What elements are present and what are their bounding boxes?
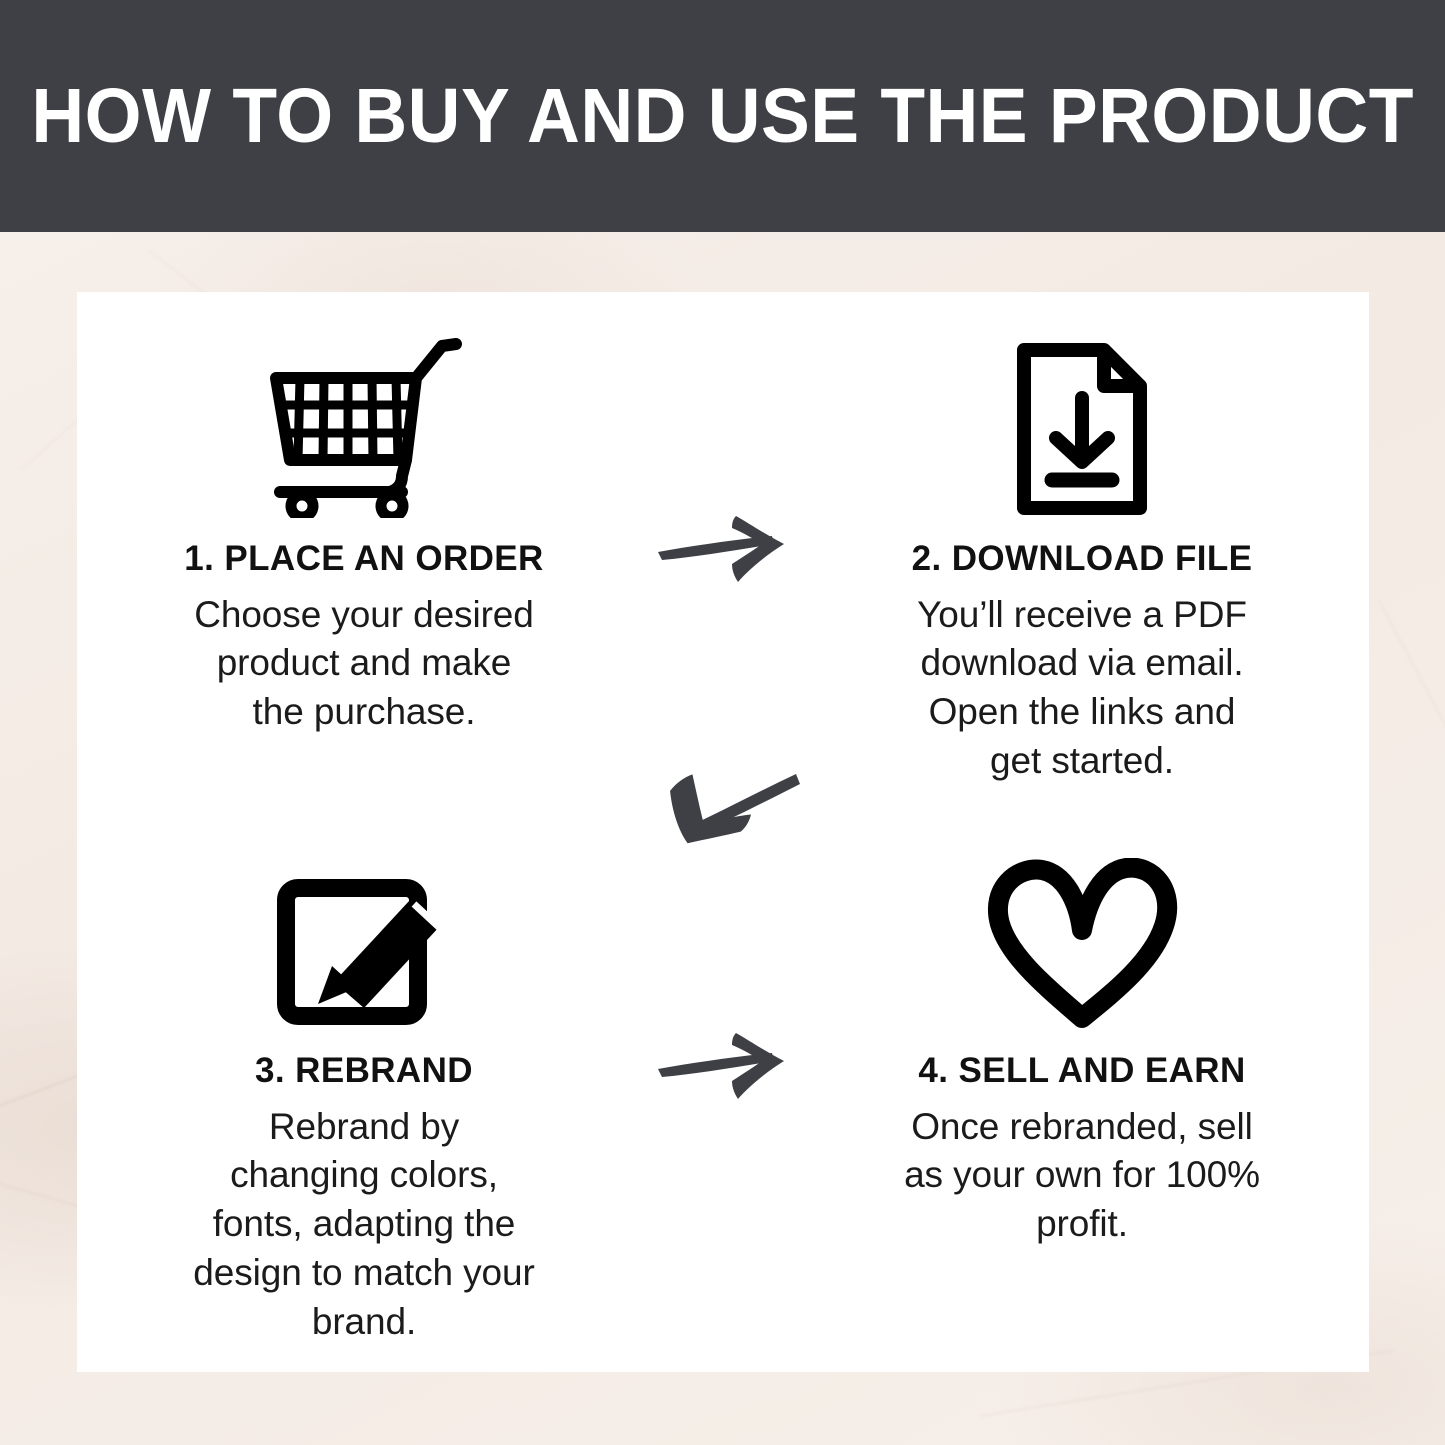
content-card: 1. PLACE AN ORDER Choose your desired pr… [77,292,1369,1372]
marble-vein [1378,600,1445,831]
step-1: 1. PLACE AN ORDER Choose your desired pr… [149,328,579,737]
step-4-title: 4. SELL AND EARN [867,1052,1297,1091]
step-2-title: 2. DOWNLOAD FILE [867,540,1297,579]
step-2-body: You’ll receive a PDF download via email.… [867,591,1297,786]
step-3-title: 3. REBRAND [149,1052,579,1091]
arrow-right-step1-to-step2 [652,510,802,593]
header-bar: HOW TO BUY AND USE THE PRODUCT [0,0,1445,232]
download-file-icon [867,328,1297,518]
step-1-body: Choose your desired product and make the… [149,591,579,737]
heart-icon [867,840,1297,1030]
arrow-right-step3-to-step4 [652,1027,802,1110]
step-4: 4. SELL AND EARN Once rebranded, sell as… [867,840,1297,1249]
step-4-body: Once rebranded, sell as your own for 100… [867,1103,1297,1249]
step-3-body: Rebrand by changing colors, fonts, adapt… [149,1103,579,1347]
step-3: 3. REBRAND Rebrand by changing colors, f… [149,840,579,1347]
infographic-page: HOW TO BUY AND USE THE PRODUCT [0,0,1445,1445]
step-1-title: 1. PLACE AN ORDER [149,540,579,579]
shopping-cart-icon [149,328,579,518]
step-2: 2. DOWNLOAD FILE You’ll receive a PDF do… [867,328,1297,786]
page-title: HOW TO BUY AND USE THE PRODUCT [31,78,1414,155]
edit-pencil-icon [149,840,579,1030]
steps-grid: 1. PLACE AN ORDER Choose your desired pr… [77,292,1369,1372]
arrow-down-left-step2-to-step3 [652,762,802,859]
